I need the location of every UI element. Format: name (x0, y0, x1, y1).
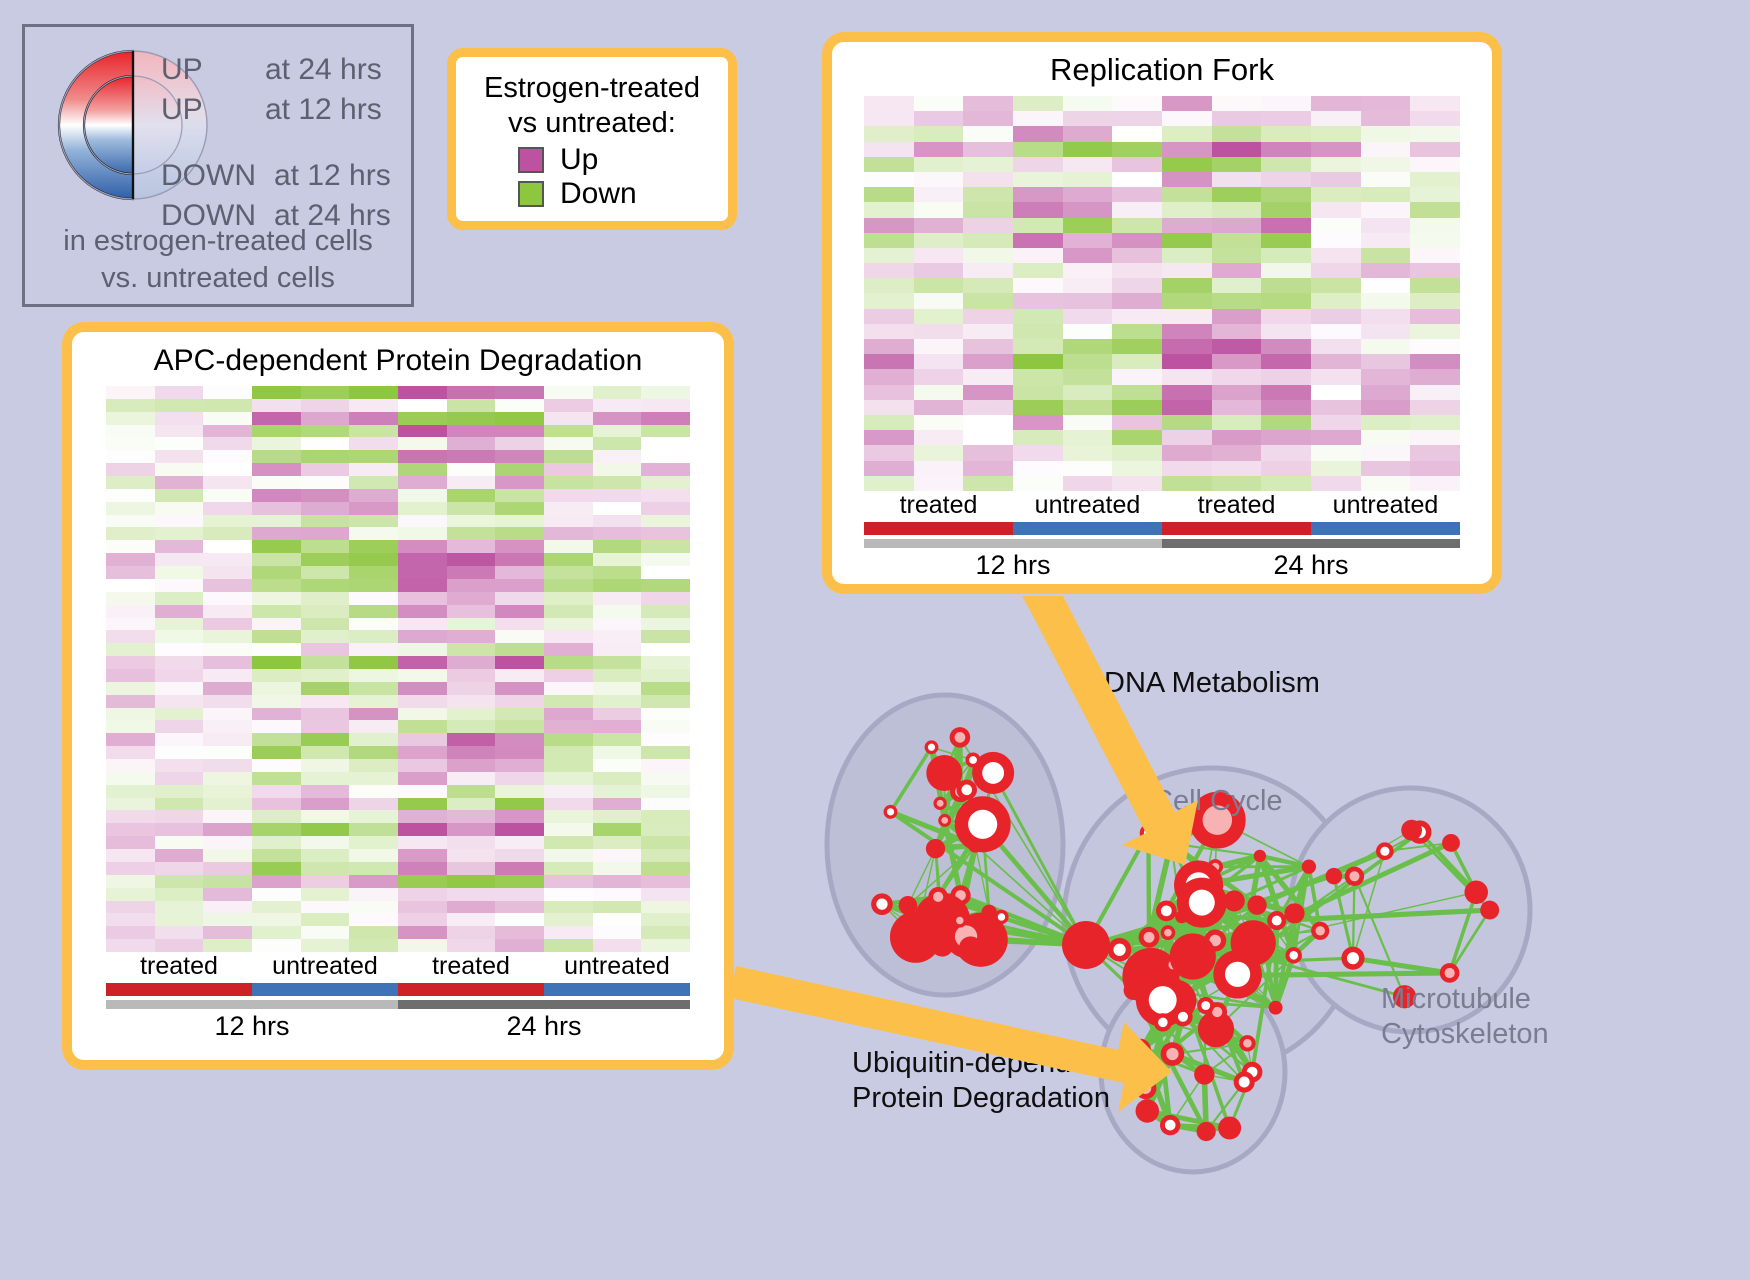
network-node[interactable] (1154, 1013, 1172, 1031)
heatmap-cell (155, 605, 204, 618)
heatmap-cell (155, 489, 204, 502)
heatmap-cell (495, 939, 544, 952)
heatmap-cell (1261, 430, 1311, 445)
network-node[interactable] (1213, 950, 1261, 998)
heatmap-cell (301, 733, 350, 746)
network-node[interactable] (981, 905, 996, 920)
heatmap-cell (914, 187, 964, 202)
heatmap-cell (1311, 339, 1361, 354)
network-node[interactable] (1135, 1078, 1157, 1100)
heatmap-cell (349, 425, 398, 438)
key-time-down-12: at 12 hrs (274, 159, 391, 193)
heatmap-cell (1112, 293, 1162, 308)
network-node[interactable] (926, 755, 962, 791)
heatmap-cell (1112, 339, 1162, 354)
heatmap-cell (106, 515, 155, 528)
heatmap-cell (1162, 461, 1212, 476)
heatmap-cell (447, 823, 496, 836)
heatmap-cell (203, 605, 252, 618)
heatmap-cell (544, 823, 593, 836)
sample-labels-replication: treated untreated treated untreated (864, 491, 1460, 520)
network-node[interactable] (1254, 850, 1266, 862)
network-node[interactable] (899, 896, 918, 915)
heatmap-cell (593, 682, 642, 695)
network-node[interactable] (1062, 921, 1110, 969)
network-node[interactable] (1311, 922, 1329, 940)
heatmap-cell (495, 772, 544, 785)
network-node[interactable] (933, 797, 946, 810)
node-outer (1218, 1116, 1241, 1139)
heatmap-cell (398, 437, 447, 450)
heatmap-cell (203, 862, 252, 875)
heatmap-cell (1261, 369, 1311, 384)
heatmap-cell (544, 682, 593, 695)
heatmap-cell (1212, 476, 1262, 491)
heatmap-cell (447, 643, 496, 656)
heatmap-cell (301, 579, 350, 592)
heatmap-cell (1013, 309, 1063, 324)
heatmap-cell (398, 618, 447, 631)
heatmap-cell (544, 386, 593, 399)
heatmap-cell (349, 412, 398, 425)
heatmap-cell (349, 875, 398, 888)
heatmap-cell (544, 566, 593, 579)
heatmap-cell (1361, 157, 1411, 172)
heatmap-cell (301, 386, 350, 399)
heatmap-cell (593, 901, 642, 914)
heatmap-cell (914, 233, 964, 248)
network-node[interactable] (1177, 878, 1227, 928)
network-node[interactable] (1160, 1115, 1180, 1135)
network-node[interactable] (1161, 925, 1176, 940)
heatmap-cell (155, 643, 204, 656)
heatmap-cell (963, 96, 1013, 111)
heatmap-cell (1162, 278, 1212, 293)
node-outer (1302, 859, 1316, 873)
heatmap-cell (155, 450, 204, 463)
node-core (1113, 944, 1125, 956)
heatmap-cell (593, 836, 642, 849)
heatmap-cell (252, 772, 301, 785)
heatmap-cell (349, 888, 398, 901)
network-node[interactable] (1267, 911, 1286, 930)
heatmap-cell (447, 386, 496, 399)
heatmap-cell (349, 926, 398, 939)
node-outer (1136, 1099, 1160, 1123)
heatmap-cell (1261, 445, 1311, 460)
network-node[interactable] (1326, 868, 1343, 885)
network-node[interactable] (959, 936, 983, 960)
heatmap-cell (864, 309, 914, 324)
heatmap-cell (106, 450, 155, 463)
heatmap-cell (1063, 309, 1113, 324)
panel-title-apc: APC-dependent Protein Degradation (72, 344, 724, 378)
heatmap-cell (641, 746, 690, 759)
node-core (1165, 1120, 1176, 1131)
network-node[interactable] (1218, 1116, 1241, 1139)
heatmap-cell (1212, 126, 1262, 141)
node-core (1239, 1077, 1250, 1088)
heatmap-cell (155, 515, 204, 528)
heatmap-cell (301, 682, 350, 695)
heatmap-cell (301, 605, 350, 618)
heatmap-cell (593, 630, 642, 643)
heatmap-cell (349, 553, 398, 566)
heatmap-cell (864, 400, 914, 415)
heatmap-cell (349, 540, 398, 553)
heatmap-cell (1063, 96, 1113, 111)
heatmap-cell (349, 502, 398, 515)
heatmap-cell (301, 450, 350, 463)
heatmap-cell (963, 354, 1013, 369)
sample-bar-untreated-12 (252, 983, 398, 996)
heatmap-cell (864, 385, 914, 400)
heatmap-cell (1013, 278, 1063, 293)
heatmap-cell (1311, 172, 1361, 187)
heatmap-cell (1261, 385, 1311, 400)
panel-replication-fork: Replication Fork treated untreated treat… (822, 32, 1502, 594)
heatmap-cell (252, 605, 301, 618)
node-core (1144, 828, 1153, 837)
heatmap-cell (1361, 278, 1411, 293)
heatmap-cell (155, 553, 204, 566)
heatmap-cell (252, 849, 301, 862)
heatmap-cell (1410, 430, 1460, 445)
heatmap-cell (1261, 339, 1311, 354)
heatmap-cell (914, 172, 964, 187)
node-outer (1197, 1122, 1216, 1141)
heatmap-cell (544, 746, 593, 759)
network-node[interactable] (1376, 842, 1394, 860)
network-node[interactable] (966, 752, 981, 767)
network-node[interactable] (1224, 890, 1245, 911)
heatmap-cell (1112, 461, 1162, 476)
heatmap-cell (1112, 278, 1162, 293)
heatmap-cell (1212, 293, 1262, 308)
heatmap-cell (301, 463, 350, 476)
heatmap-cell (544, 836, 593, 849)
heatmap-cell (447, 862, 496, 875)
heatmap-cell (1013, 233, 1063, 248)
heatmap-cell (544, 901, 593, 914)
network-node[interactable] (1269, 1001, 1283, 1015)
heatmap-cell (349, 913, 398, 926)
heatmap-cell (495, 502, 544, 515)
heatmap-cell (203, 566, 252, 579)
heatmap-cell (641, 553, 690, 566)
network-node[interactable] (884, 805, 898, 819)
heatmap-cell (1410, 293, 1460, 308)
heatmap-cell (203, 476, 252, 489)
heatmap-cell (447, 682, 496, 695)
heatmap-cell (495, 476, 544, 489)
heatmap-cell (1112, 415, 1162, 430)
node-outer (926, 839, 945, 858)
heatmap-cell (1410, 385, 1460, 400)
heatmap-cell (203, 772, 252, 785)
heatmap-cell (1311, 476, 1361, 491)
heatmap-cell (106, 579, 155, 592)
heatmap-cell (1212, 202, 1262, 217)
network-node[interactable] (1140, 1058, 1157, 1075)
network-node[interactable] (950, 727, 971, 748)
heatmap-cell (106, 630, 155, 643)
node-outer (1170, 933, 1216, 979)
heatmap-cell (398, 450, 447, 463)
heatmap-cell (864, 157, 914, 172)
cluster-label-microtubule: Microtubule Cytoskeleton (1381, 982, 1549, 1053)
heatmap-cell (544, 515, 593, 528)
heatmap-cell (914, 339, 964, 354)
network-node[interactable] (1161, 1042, 1185, 1066)
node-outer (931, 934, 953, 956)
heatmap-cell (1013, 293, 1063, 308)
heatmap-cell (641, 386, 690, 399)
heatmap-cell (106, 656, 155, 669)
heatmap-cell (1063, 354, 1113, 369)
network-node[interactable] (1139, 927, 1160, 948)
heatmap-cell (1361, 430, 1411, 445)
heatmap-cell (641, 785, 690, 798)
heatmap-cell (155, 708, 204, 721)
heatmap-cell (593, 708, 642, 721)
heatmap-cell (593, 759, 642, 772)
heatmap-cell (963, 278, 1013, 293)
node-core (1166, 1048, 1178, 1060)
heatmap-cell (495, 720, 544, 733)
heatmap-cell (544, 656, 593, 669)
heatmap-cell (203, 695, 252, 708)
heatmap-cell (1063, 126, 1113, 141)
heatmap-cell (155, 399, 204, 412)
heatmap-cell (1013, 218, 1063, 233)
heatmap-cell (1112, 218, 1162, 233)
heatmap-cell (1261, 111, 1311, 126)
heatmap-cell (1063, 278, 1113, 293)
network-node[interactable] (1285, 947, 1301, 963)
network-node[interactable] (931, 934, 953, 956)
heatmap-cell (203, 515, 252, 528)
heatmap-cell (1311, 142, 1361, 157)
heatmap-cell (641, 437, 690, 450)
heatmap-cell (1361, 142, 1411, 157)
heatmap-cell (106, 913, 155, 926)
node-outer (1247, 895, 1266, 914)
heatmap-cell (106, 888, 155, 901)
heatmap-cell (1311, 430, 1361, 445)
time-labels-replication: 12 hrs 24 hrs (864, 550, 1460, 581)
heatmap-cell (1410, 248, 1460, 263)
network-node[interactable] (1170, 933, 1216, 979)
network-node[interactable] (1302, 859, 1316, 873)
heatmap-cell (349, 849, 398, 862)
heatmap-cell (544, 399, 593, 412)
network-node[interactable] (1140, 824, 1157, 841)
heatmap-cell (1112, 263, 1162, 278)
network-node[interactable] (1284, 903, 1304, 923)
heatmap-cell (398, 682, 447, 695)
network-node[interactable] (925, 740, 939, 754)
network-node[interactable] (1239, 1035, 1255, 1051)
heatmap-cell (544, 862, 593, 875)
network-node[interactable] (1136, 1099, 1160, 1123)
heatmap-cell (203, 785, 252, 798)
key-word-up-12: UP (161, 93, 203, 127)
heatmap-cell (1261, 415, 1311, 430)
node-core (969, 756, 977, 764)
heatmap-cell (447, 798, 496, 811)
heatmap-cell (447, 630, 496, 643)
heatmap-cell (1410, 233, 1460, 248)
heatmap-cell (1112, 445, 1162, 460)
network-node[interactable] (1108, 938, 1132, 962)
heatmap-cell (203, 656, 252, 669)
heatmap-cell (398, 836, 447, 849)
network-node[interactable] (1197, 997, 1214, 1014)
node-core (1272, 916, 1282, 926)
heatmap-cell (1162, 142, 1212, 157)
heatmap-cell (106, 437, 155, 450)
heatmap-cell (1162, 354, 1212, 369)
heatmap-cell (864, 218, 914, 233)
sample-bar-untreated-12 (1013, 522, 1162, 535)
heatmap-cell (349, 862, 398, 875)
heatmap-cell (349, 939, 398, 952)
heatmap-cell (349, 437, 398, 450)
legend-item-down: Down (518, 179, 728, 209)
network-node[interactable] (1247, 895, 1266, 914)
heatmap-cell (349, 605, 398, 618)
heatmap-cell (864, 445, 914, 460)
heatmap-cell (301, 720, 350, 733)
heatmap-cell (914, 263, 964, 278)
node-outer (1062, 921, 1110, 969)
network-node[interactable] (938, 814, 951, 827)
heatmap-cell (301, 630, 350, 643)
node-core (1189, 890, 1215, 916)
heatmap-cell (398, 746, 447, 759)
heatmap-cell (252, 515, 301, 528)
node-core (1144, 932, 1155, 943)
heatmap-cell (544, 913, 593, 926)
network-node[interactable] (1173, 1007, 1192, 1026)
heatmap-cell (1311, 369, 1361, 384)
time-bar-replication (864, 539, 1460, 548)
heatmap-cell (963, 263, 1013, 278)
heatmap-cell (203, 399, 252, 412)
heatmap-cell (447, 476, 496, 489)
heatmap-cell (1261, 96, 1311, 111)
heatmap-cell (1212, 263, 1262, 278)
heatmap-cell (398, 669, 447, 682)
heatmap-cell (544, 720, 593, 733)
network-node[interactable] (926, 839, 945, 858)
heatmap-cell (1261, 309, 1311, 324)
heatmap-cell (495, 913, 544, 926)
heatmap-cell (593, 785, 642, 798)
heatmap-cell (252, 437, 301, 450)
network-node[interactable] (1194, 1064, 1214, 1084)
network-node[interactable] (871, 893, 893, 915)
heatmap-cell (544, 437, 593, 450)
node-core (887, 808, 894, 815)
heatmap-cell (1212, 430, 1262, 445)
network-node[interactable] (1464, 881, 1488, 905)
heatmap-cell (963, 293, 1013, 308)
heatmap-cell (301, 901, 350, 914)
heatmap-cell (203, 579, 252, 592)
heatmap-cell (1361, 415, 1411, 430)
network-node[interactable] (1480, 901, 1499, 920)
heatmap-cell (1063, 385, 1113, 400)
heatmap-cell (544, 630, 593, 643)
network-node[interactable] (1197, 1122, 1216, 1141)
heatmap-cell (106, 772, 155, 785)
network-node[interactable] (1129, 1039, 1151, 1061)
heatmap-cell (593, 939, 642, 952)
node-core (982, 762, 1004, 784)
heatmap-cell (914, 142, 964, 157)
heatmap-cell (593, 502, 642, 515)
network-node[interactable] (1440, 963, 1460, 983)
heatmap-cell (1410, 339, 1460, 354)
color-key-box: UP at 24 hrs UP at 12 hrs DOWN at 12 hrs… (22, 24, 414, 307)
heatmap-cell (155, 386, 204, 399)
heatmap-cell (203, 939, 252, 952)
network-node[interactable] (1442, 834, 1460, 852)
node-core (1380, 847, 1389, 856)
heatmap-cell (641, 759, 690, 772)
network-node[interactable] (953, 913, 967, 927)
heatmap-cell (155, 772, 204, 785)
heatmap-cell (203, 746, 252, 759)
network-node[interactable] (957, 780, 977, 800)
heatmap-cell (398, 733, 447, 746)
heatmap-cell (544, 643, 593, 656)
heatmap-cell (495, 489, 544, 502)
heatmap-cell (1212, 339, 1262, 354)
heatmap-cell (1162, 385, 1212, 400)
heatmap-cell (447, 772, 496, 785)
heatmap-cell (155, 720, 204, 733)
network-node[interactable] (1234, 1071, 1255, 1092)
network-node[interactable] (955, 796, 1011, 852)
heatmap-cell (447, 720, 496, 733)
heatmap-cell (203, 669, 252, 682)
heatmap-cell (301, 849, 350, 862)
network-node[interactable] (1401, 820, 1422, 841)
heatmap-cell (301, 489, 350, 502)
heatmap-cell (1063, 293, 1113, 308)
network-node[interactable] (1163, 835, 1180, 852)
heatmap-cell (641, 913, 690, 926)
key-time-up-24: at 24 hrs (265, 53, 382, 87)
heatmap-cell (155, 926, 204, 939)
network-node[interactable] (1345, 867, 1364, 886)
heatmap-cell (1212, 309, 1262, 324)
heatmap-cell (1311, 385, 1361, 400)
sample-bar-treated-24 (398, 983, 544, 996)
heatmap-cell (1361, 354, 1411, 369)
network-node[interactable] (1156, 900, 1177, 921)
network-node[interactable] (1341, 947, 1364, 970)
heatmap-cell (301, 759, 350, 772)
network-node[interactable] (928, 887, 948, 907)
heatmap-cell (203, 836, 252, 849)
heatmap-cell (1261, 461, 1311, 476)
node-core (1315, 926, 1324, 935)
heatmap-cell (544, 939, 593, 952)
